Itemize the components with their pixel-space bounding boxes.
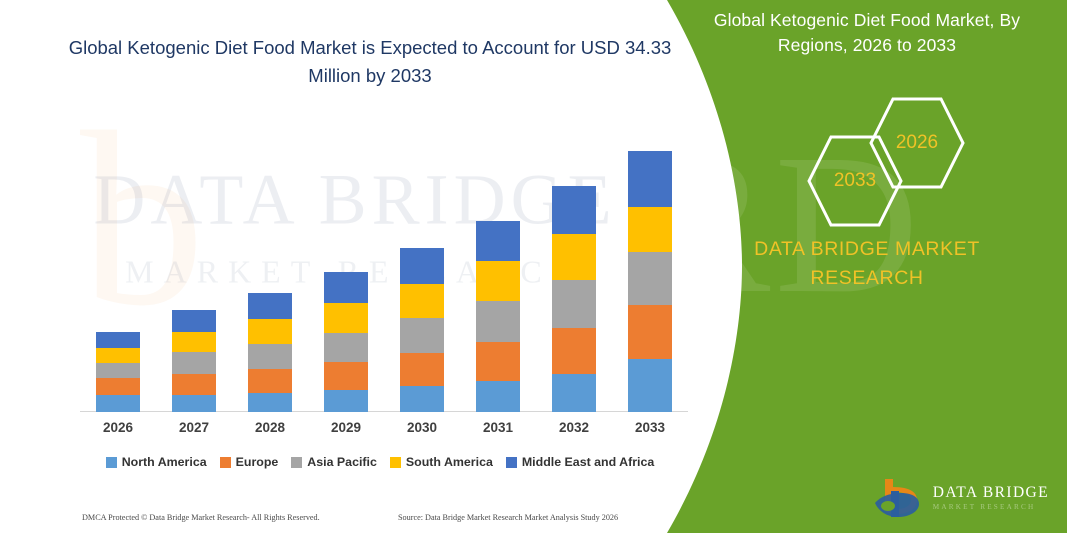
logo-b-icon: [871, 475, 923, 521]
bar-2033[interactable]: [628, 151, 672, 412]
bar-2029[interactable]: [324, 272, 368, 412]
bar-segment-north-america[interactable]: [400, 386, 444, 412]
legend-item-north-america[interactable]: North America: [106, 455, 207, 469]
bar-segment-north-america[interactable]: [476, 381, 520, 412]
x-label-2029: 2029: [311, 420, 381, 435]
panel-brand-line2: RESEARCH: [697, 264, 1037, 293]
bar-segment-asia-pacific[interactable]: [96, 363, 140, 378]
x-label-2027: 2027: [159, 420, 229, 435]
logo-subtitle: MARKET RESEARCH: [933, 504, 1049, 511]
bar-segment-middle-east-and-africa[interactable]: [324, 272, 368, 303]
chart-legend: North AmericaEuropeAsia PacificSouth Ame…: [80, 455, 680, 469]
bar-segment-europe[interactable]: [400, 353, 444, 386]
bar-segment-south-america[interactable]: [248, 319, 292, 344]
bar-segment-north-america[interactable]: [172, 395, 216, 412]
legend-item-asia-pacific[interactable]: Asia Pacific: [291, 455, 377, 469]
bar-segment-europe[interactable]: [628, 305, 672, 359]
panel-brand: DATA BRIDGE MARKET RESEARCH: [697, 235, 1037, 294]
bar-segment-europe[interactable]: [172, 374, 216, 395]
bar-segment-middle-east-and-africa[interactable]: [552, 186, 596, 234]
logo-title: DATA BRIDGE: [933, 485, 1049, 501]
x-label-2028: 2028: [235, 420, 305, 435]
footer-copyright: DMCA Protected © Data Bridge Market Rese…: [82, 513, 320, 522]
hexagon-2026: 2026: [869, 95, 965, 191]
bar-segment-north-america[interactable]: [248, 393, 292, 412]
bar-segment-europe[interactable]: [248, 369, 292, 393]
bar-segment-asia-pacific[interactable]: [400, 318, 444, 353]
legend-label: South America: [406, 455, 493, 469]
bar-segment-south-america[interactable]: [476, 261, 520, 301]
x-axis-labels: 20262027202820292030203120322033: [80, 420, 688, 444]
legend-label: North America: [122, 455, 207, 469]
bar-2028[interactable]: [248, 293, 292, 412]
legend-swatch-icon: [291, 457, 302, 468]
right-green-panel: RD Global Ketogenic Diet Food Market, By…: [667, 0, 1067, 533]
bar-segment-south-america[interactable]: [400, 284, 444, 318]
legend-item-middle-east-and-africa[interactable]: Middle East and Africa: [506, 455, 654, 469]
bar-segment-middle-east-and-africa[interactable]: [628, 151, 672, 207]
stacked-bar-chart: [80, 120, 680, 412]
company-logo: DATA BRIDGE MARKET RESEARCH: [871, 475, 1049, 521]
footer: DMCA Protected © Data Bridge Market Rese…: [0, 505, 700, 529]
bar-segment-north-america[interactable]: [96, 395, 140, 412]
bar-segment-middle-east-and-africa[interactable]: [400, 248, 444, 284]
legend-swatch-icon: [220, 457, 231, 468]
bar-segment-europe[interactable]: [96, 378, 140, 395]
bar-segment-south-america[interactable]: [628, 207, 672, 252]
bar-segment-asia-pacific[interactable]: [628, 252, 672, 305]
bar-2026[interactable]: [96, 332, 140, 412]
bar-segment-asia-pacific[interactable]: [476, 301, 520, 342]
legend-label: Europe: [236, 455, 279, 469]
bar-2030[interactable]: [400, 248, 444, 412]
bar-segment-middle-east-and-africa[interactable]: [172, 310, 216, 332]
legend-label: Asia Pacific: [307, 455, 377, 469]
bar-segment-middle-east-and-africa[interactable]: [476, 221, 520, 261]
legend-label: Middle East and Africa: [522, 455, 654, 469]
bar-segment-asia-pacific[interactable]: [172, 352, 216, 374]
x-label-2030: 2030: [387, 420, 457, 435]
bar-segment-south-america[interactable]: [552, 234, 596, 280]
chart-title: Global Ketogenic Diet Food Market is Exp…: [60, 34, 680, 90]
panel-brand-line1: DATA BRIDGE MARKET: [697, 235, 1037, 264]
bar-segment-middle-east-and-africa[interactable]: [96, 332, 140, 348]
bar-segment-north-america[interactable]: [324, 390, 368, 412]
legend-swatch-icon: [390, 457, 401, 468]
legend-item-south-america[interactable]: South America: [390, 455, 493, 469]
footer-source: Source: Data Bridge Market Research Mark…: [398, 513, 618, 522]
bar-segment-north-america[interactable]: [628, 359, 672, 412]
panel-title: Global Ketogenic Diet Food Market, By Re…: [697, 8, 1037, 59]
bar-2032[interactable]: [552, 186, 596, 412]
bar-segment-south-america[interactable]: [96, 348, 140, 363]
hexagon-2026-label: 2026: [869, 95, 965, 191]
x-label-2026: 2026: [83, 420, 153, 435]
legend-swatch-icon: [506, 457, 517, 468]
bar-2031[interactable]: [476, 221, 520, 412]
bar-segment-europe[interactable]: [476, 342, 520, 381]
bar-segment-middle-east-and-africa[interactable]: [248, 293, 292, 319]
bar-segment-europe[interactable]: [324, 362, 368, 390]
bar-segment-asia-pacific[interactable]: [248, 344, 292, 369]
legend-item-europe[interactable]: Europe: [220, 455, 279, 469]
x-label-2032: 2032: [539, 420, 609, 435]
bar-segment-south-america[interactable]: [172, 332, 216, 352]
x-label-2031: 2031: [463, 420, 533, 435]
bar-segment-north-america[interactable]: [552, 374, 596, 412]
bar-segment-asia-pacific[interactable]: [552, 280, 596, 328]
bar-segment-asia-pacific[interactable]: [324, 333, 368, 362]
logo-text: DATA BRIDGE MARKET RESEARCH: [933, 485, 1049, 512]
x-label-2033: 2033: [615, 420, 685, 435]
infographic-root: b DATA BRIDGE MARKET RESEARCH Global Ket…: [0, 0, 1067, 533]
legend-swatch-icon: [106, 457, 117, 468]
bar-segment-south-america[interactable]: [324, 303, 368, 333]
bar-segment-europe[interactable]: [552, 328, 596, 374]
hexagon-group: 2033 2026: [667, 95, 1067, 225]
bar-2027[interactable]: [172, 310, 216, 412]
